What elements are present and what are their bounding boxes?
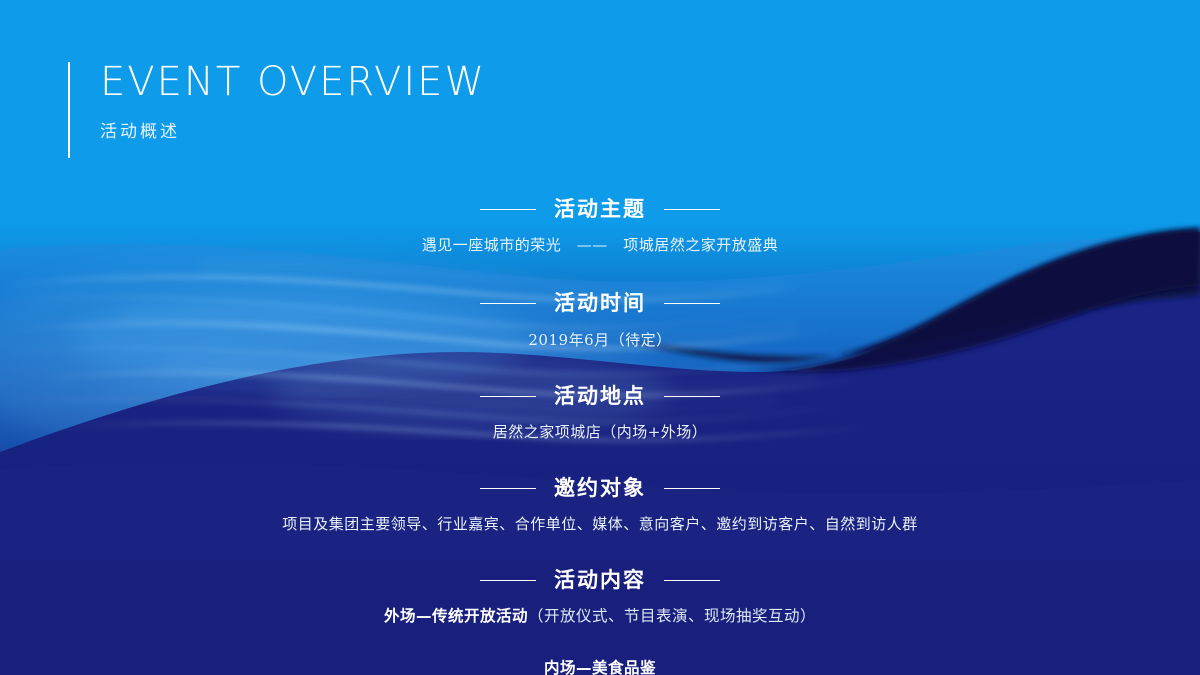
outdoor-activity-detail: （开放仪式、节目表演、现场抽奖互动） — [528, 607, 816, 625]
section-heading-row: 活动主题 — [0, 196, 1200, 223]
section-heading-label: 邀约对象 — [554, 475, 646, 502]
content-area: 活动主题 遇见一座城市的荣光 —— 项城居然之家开放盛典 活动时间 2019年6… — [0, 196, 1200, 675]
slide-title-block: EVENT OVERVIEW 活动概述 — [68, 62, 486, 158]
rule-left-icon — [480, 580, 536, 581]
rule-left-icon — [480, 209, 536, 210]
section-event-time: 活动时间 2019年6月（待定） — [0, 290, 1200, 350]
section-invited-guests: 邀约对象 项目及集团主要领导、行业嘉宾、合作单位、媒体、意向客户、邀约到访客户、… — [0, 475, 1200, 535]
section-event-theme: 活动主题 遇见一座城市的荣光 —— 项城居然之家开放盛典 — [0, 196, 1200, 256]
rule-right-icon — [664, 580, 720, 581]
section-body-text-outdoor: 外场—传统开放活动（开放仪式、节目表演、现场抽奖互动） — [0, 606, 1200, 628]
section-body-text: 居然之家项城店（内场+外场） — [0, 422, 1200, 443]
slide-canvas: EVENT OVERVIEW 活动概述 活动主题 遇见一座城市的荣光 —— 项城… — [0, 0, 1200, 675]
section-heading-label: 活动时间 — [554, 290, 646, 317]
rule-left-icon — [480, 303, 536, 304]
section-body-text-indoor: 内场—美食品鉴 — [0, 658, 1200, 675]
section-heading-label: 活动地点 — [554, 383, 646, 410]
page-title-english: EVENT OVERVIEW — [100, 62, 486, 102]
rule-right-icon — [664, 209, 720, 210]
section-heading-row: 邀约对象 — [0, 475, 1200, 502]
section-heading-label: 活动内容 — [554, 567, 646, 594]
section-heading-label: 活动主题 — [554, 196, 646, 223]
rule-right-icon — [664, 303, 720, 304]
section-body-text: 遇见一座城市的荣光 —— 项城居然之家开放盛典 — [0, 235, 1200, 256]
section-heading-row: 活动时间 — [0, 290, 1200, 317]
section-heading-row: 活动内容 — [0, 567, 1200, 594]
section-event-location: 活动地点 居然之家项城店（内场+外场） — [0, 383, 1200, 443]
section-body-text: 2019年6月（待定） — [0, 330, 1200, 351]
rule-left-icon — [480, 396, 536, 397]
section-event-content: 活动内容 外场—传统开放活动（开放仪式、节目表演、现场抽奖互动） 内场—美食品鉴 — [0, 567, 1200, 675]
rule-left-icon — [480, 488, 536, 489]
page-title-chinese: 活动概述 — [100, 124, 486, 141]
rule-right-icon — [664, 396, 720, 397]
rule-right-icon — [664, 488, 720, 489]
section-heading-row: 活动地点 — [0, 383, 1200, 410]
section-body-text: 项目及集团主要领导、行业嘉宾、合作单位、媒体、意向客户、邀约到访客户、自然到访人… — [0, 514, 1200, 535]
outdoor-activity-label: 外场—传统开放活动 — [384, 607, 528, 625]
